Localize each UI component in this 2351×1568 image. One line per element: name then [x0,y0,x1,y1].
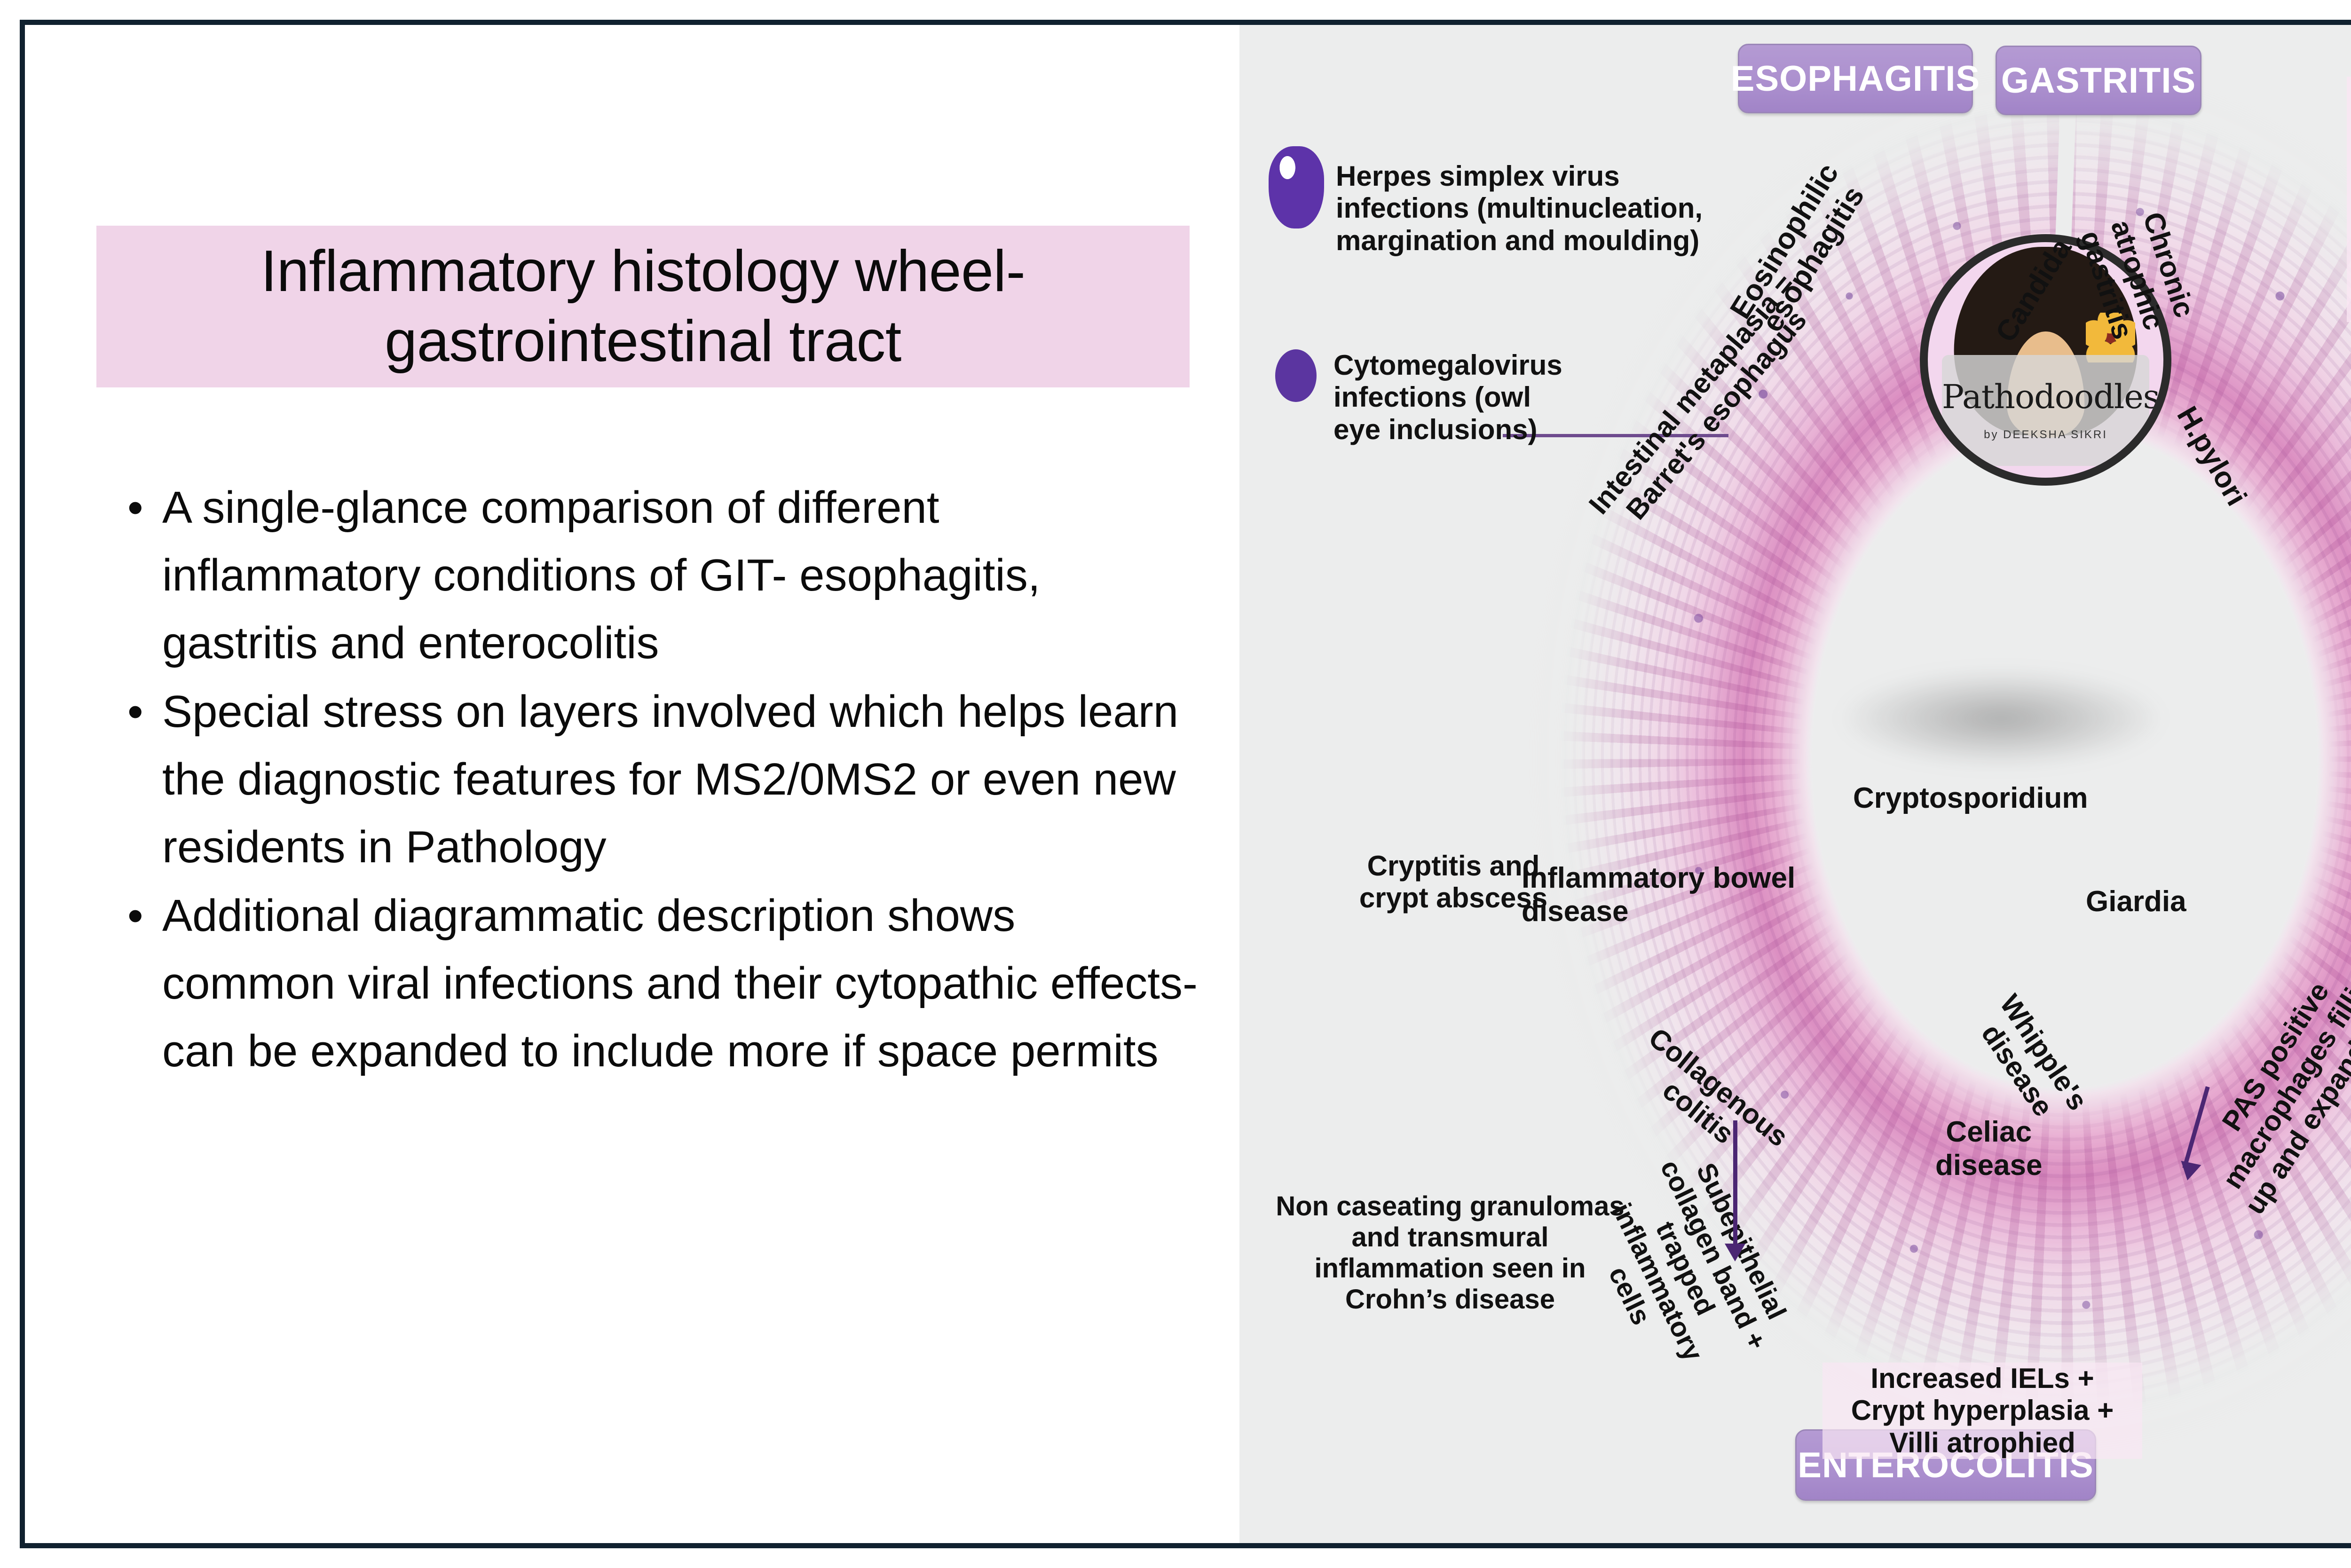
center-shadow [1837,669,2166,768]
cytomegalovirus-icon [1275,349,1317,402]
label-celiac-disease: Celiac disease [1935,1116,2043,1182]
section-chip-gastritis[interactable]: GASTRITIS [1996,46,2201,115]
intestinal-metaplasia-note: Intestinal metaplasia with chronic gastr… [2347,77,2351,322]
label-crohns-disease: Non caseating granulomas and transmural … [1262,1191,1638,1315]
bullet-marker: • [119,474,162,542]
bullet-text: A single-glance comparison of different … [162,474,1200,677]
bullet-marker: • [119,678,162,746]
bullet-text: Special stress on layers involved which … [162,678,1200,881]
list-item: • Additional diagrammatic description sh… [119,882,1200,1085]
bullet-text: Additional diagrammatic description show… [162,882,1200,1085]
cmv-note-text: Cytomegalovirus infections (owl eye incl… [1333,349,1634,446]
logo-byline-text: by DEEKSHA SIKRI [1942,428,2149,441]
herpes-note-text: Herpes simplex virus infections (multinu… [1336,160,1726,257]
title-band: Inflammatory histology wheel- gastrointe… [96,226,1190,387]
bullet-marker: • [119,882,162,950]
left-text-panel: Inflammatory histology wheel- gastrointe… [25,25,1238,1543]
label-cryptitis-crypt-abscess: Cryptitis and crypt abscess [1333,850,1573,914]
logo-nameplate: Pathodoodles by DEEKSHA SIKRI [1942,355,2149,465]
crohns-arrow-line [1733,1120,1737,1247]
histology-wheel-figure: Pathodoodles by DEEKSHA SIKRI ESOPHAGITI… [1239,25,2351,1543]
logo-name-text: Pathodoodles [1942,378,2149,416]
list-item: • Special stress on layers involved whic… [119,678,1200,881]
label-giardia: Giardia [2086,885,2186,919]
herpes-virus-icon [1269,146,1324,229]
bullet-list: • A single-glance comparison of differen… [119,474,1200,1086]
list-item: • A single-glance comparison of differen… [119,474,1200,677]
crohns-arrow-head [1725,1244,1745,1261]
page-title: Inflammatory histology wheel- gastrointe… [96,236,1190,377]
label-cryptosporidium: Cryptosporidium [1853,782,2088,815]
slide-frame: Inflammatory histology wheel- gastrointe… [20,20,2351,1548]
label-celiac-features: Increased IELs + Crypt hyperplasia + Vil… [1822,1363,2142,1459]
section-chip-esophagitis[interactable]: ESOPHAGITIS [1738,44,1973,113]
